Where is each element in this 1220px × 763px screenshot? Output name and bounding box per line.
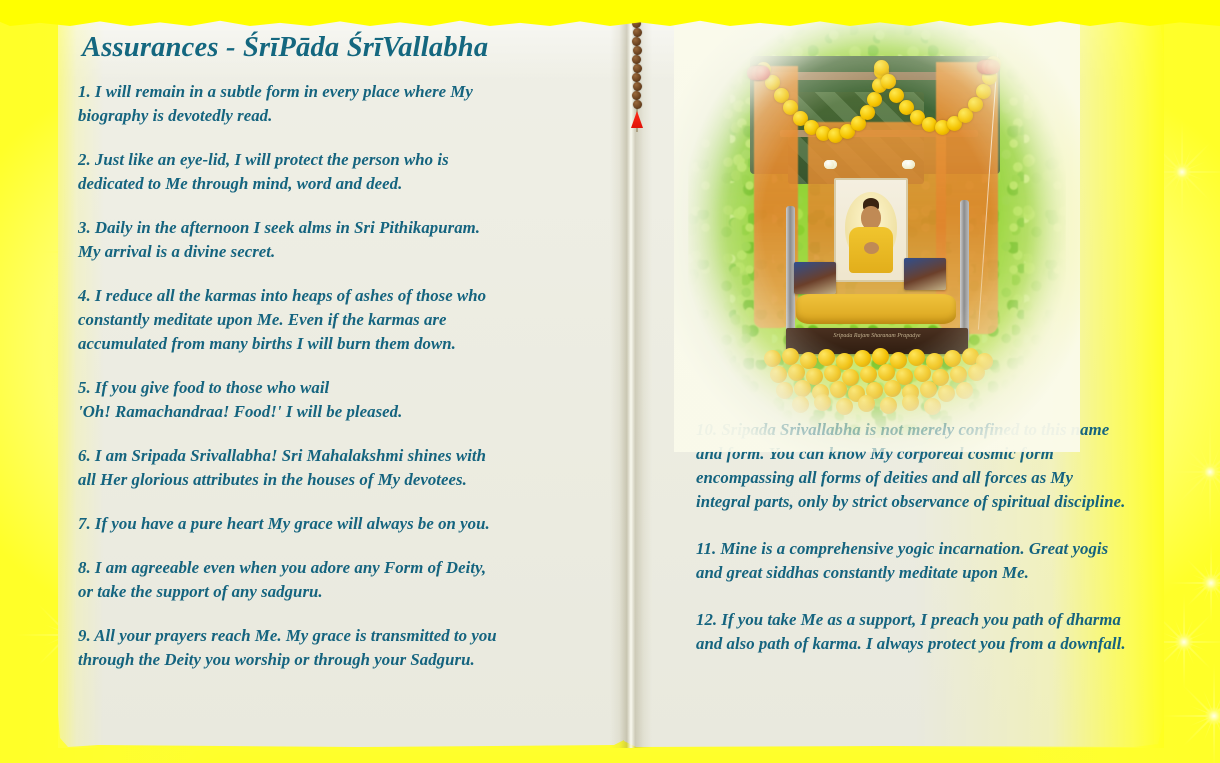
bead [632, 73, 641, 82]
assurance-line: 2. Just like an eye-lid, I will protect … [78, 148, 578, 172]
assurance-line: integral parts, only by strict observanc… [696, 490, 1216, 514]
assurance-line: all Her glorious attributes in the house… [78, 468, 578, 492]
shrine-pillar-right [960, 200, 969, 342]
bead [632, 37, 641, 46]
shrine-photograph: Sripada Rajam Sharanam Prapadye [688, 10, 1066, 438]
assurance-line: and also path of karma. I always protect… [696, 632, 1216, 656]
red-rose-garland-left [746, 66, 768, 296]
bead [633, 28, 642, 37]
plank-inscription: Sripada Rajam Sharanam Prapadye [796, 332, 958, 340]
bead [633, 100, 642, 109]
assurance-item-6: 6. I am Sripada Srivallabha! Sri Mahalak… [78, 444, 578, 492]
bead [633, 82, 642, 91]
top-yellow-band [0, 0, 1220, 26]
portrait-hands [864, 242, 879, 254]
yellow-cushion [796, 294, 956, 324]
marigold-garland-swag-left [756, 62, 876, 172]
assurance-line: dedicated to Me through mind, word and d… [78, 172, 578, 196]
red-rose-garland-right [976, 60, 998, 290]
assurance-line: 6. I am Sripada Srivallabha! Sri Mahalak… [78, 444, 578, 468]
assurance-item-2: 2. Just like an eye-lid, I will protect … [78, 148, 578, 196]
bead [632, 91, 641, 100]
assurance-line: constantly meditate upon Me. Even if the… [78, 308, 578, 332]
framed-picture-right [904, 258, 946, 290]
marigold-flower-bed [762, 348, 994, 410]
bead [632, 55, 641, 64]
photo-content: Sripada Rajam Sharanam Prapadye [688, 10, 1066, 438]
assurance-line: My arrival is a divine secret. [78, 240, 578, 264]
right-page-text: 10. Sripada Srivallabha is not merely co… [696, 418, 1216, 679]
assurance-line: 1. I will remain in a subtle form in eve… [78, 80, 578, 104]
assurance-item-5: 5. If you give food to those who wail 'O… [78, 376, 578, 424]
assurance-line: 8. I am agreeable even when you adore an… [78, 556, 578, 580]
assurance-line: and great siddhas constantly meditate up… [696, 561, 1216, 585]
assurance-line: 7. If you have a pure heart My grace wil… [78, 512, 578, 536]
assurance-item-3: 3. Daily in the afternoon I seek alms in… [78, 216, 578, 264]
bookmark-tassel [631, 111, 643, 128]
assurance-line: 3. Daily in the afternoon I seek alms in… [78, 216, 578, 240]
assurance-line: 11. Mine is a comprehensive yogic incarn… [696, 537, 1216, 561]
assurance-line: encompassing all forms of deities and al… [696, 466, 1216, 490]
assurance-line: accumulated from many births I will burn… [78, 332, 578, 356]
deity-portrait [834, 178, 908, 282]
assurance-item-8: 8. I am agreeable even when you adore an… [78, 556, 578, 604]
assurance-item-1: 1. I will remain in a subtle form in eve… [78, 80, 578, 128]
assurance-item-11: 11. Mine is a comprehensive yogic incarn… [696, 537, 1216, 585]
assurance-line: 12. If you take Me as a support, I preac… [696, 608, 1216, 632]
page-canvas: Sripada Rajam Sharanam Prapadye [0, 0, 1220, 763]
assurance-line: 9. All your prayers reach Me. My grace i… [78, 624, 578, 648]
framed-picture-left [794, 262, 836, 294]
assurance-line: biography is devotedly read. [78, 104, 578, 128]
assurance-item-4: 4. I reduce all the karmas into heaps of… [78, 284, 578, 356]
left-page-text: Assurances - ŚrīPāda ŚrīVallabha 1. I wi… [78, 32, 578, 692]
assurance-item-7: 7. If you have a pure heart My grace wil… [78, 512, 578, 536]
assurance-line: or take the support of any sadguru. [78, 580, 578, 604]
assurance-item-12: 12. If you take Me as a support, I preac… [696, 608, 1216, 656]
bead [633, 46, 642, 55]
assurance-line: 5. If you give food to those who wail [78, 376, 578, 400]
assurance-line: 'Oh! Ramachandraa! Food!' I will be plea… [78, 400, 578, 424]
open-book: Sripada Rajam Sharanam Prapadye [58, 14, 1164, 748]
assurance-line: and form. You can know My corporeal cosm… [696, 442, 1216, 466]
assurance-item-9: 9. All your prayers reach Me. My grace i… [78, 624, 578, 672]
assurance-line: 4. I reduce all the karmas into heaps of… [78, 284, 578, 308]
page-title: Assurances - ŚrīPāda ŚrīVallabha [82, 32, 578, 64]
assurance-line: through the Deity you worship or through… [78, 648, 578, 672]
bead [633, 64, 642, 73]
